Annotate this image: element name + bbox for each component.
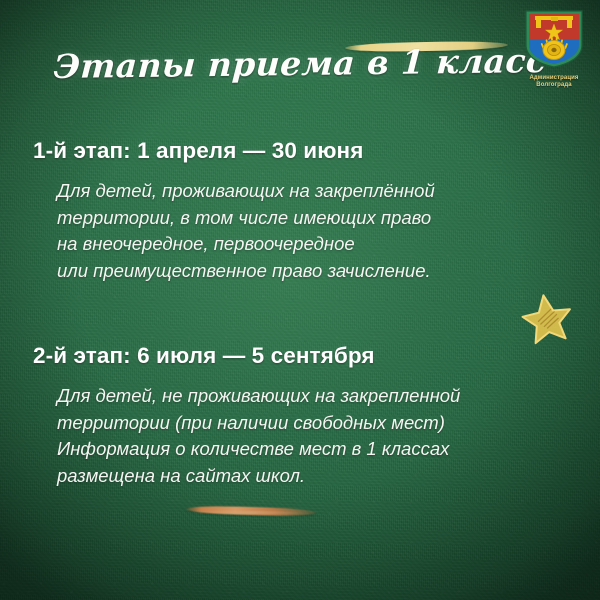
stage-2-body-line-4: размещена на сайтах школ. <box>57 463 460 490</box>
stage-1-body-line-3: на внеочередное, первоочередное <box>57 231 435 258</box>
stage-1-heading: 1-й этап: 1 апреля — 30 июня <box>33 138 435 164</box>
stage-section-1: 1-й этап: 1 апреля — 30 июня Для детей, … <box>33 138 435 284</box>
coat-of-arms-volgograd: Администрация Волгограда <box>523 9 585 91</box>
stage-2-body-line-1: Для детей, не проживающих на закрепленно… <box>57 383 460 410</box>
chalkboard-poster: Этапы приема в 1 класс <box>0 0 600 600</box>
stage-section-2: 2-й этап: 6 июля — 5 сентября Для детей,… <box>33 343 460 489</box>
emblem-caption-line-2: Волгограда <box>523 82 585 89</box>
stage-2-body-line-2: территории (при наличии свободных мест) <box>57 410 460 437</box>
stage-1-body-line-1: Для детей, проживающих на закреплённой <box>57 178 435 205</box>
poster-title-container: Этапы приема в 1 класс <box>0 44 600 83</box>
stage-2-body: Для детей, не проживающих на закрепленно… <box>57 383 460 489</box>
emblem-caption-line-1: Администрация <box>523 75 585 82</box>
stage-1-body: Для детей, проживающих на закреплённой т… <box>57 178 435 284</box>
emblem-caption: Администрация Волгограда <box>523 75 585 89</box>
coat-of-arms-icon <box>523 9 585 69</box>
stage-1-body-line-4: или преимущественное право зачисление. <box>57 258 435 285</box>
stage-1-body-line-2: территории, в том числе имеющих право <box>57 205 435 232</box>
stage-2-body-line-3: Информация о количестве мест в 1 классах <box>57 436 460 463</box>
page-title: Этапы приема в 1 класс <box>52 41 547 86</box>
chalk-star-drawing <box>515 286 579 350</box>
bottom-underline-chalk-stroke <box>186 505 316 517</box>
star-icon <box>515 286 579 350</box>
stage-2-heading: 2-й этап: 6 июля — 5 сентября <box>33 343 460 369</box>
